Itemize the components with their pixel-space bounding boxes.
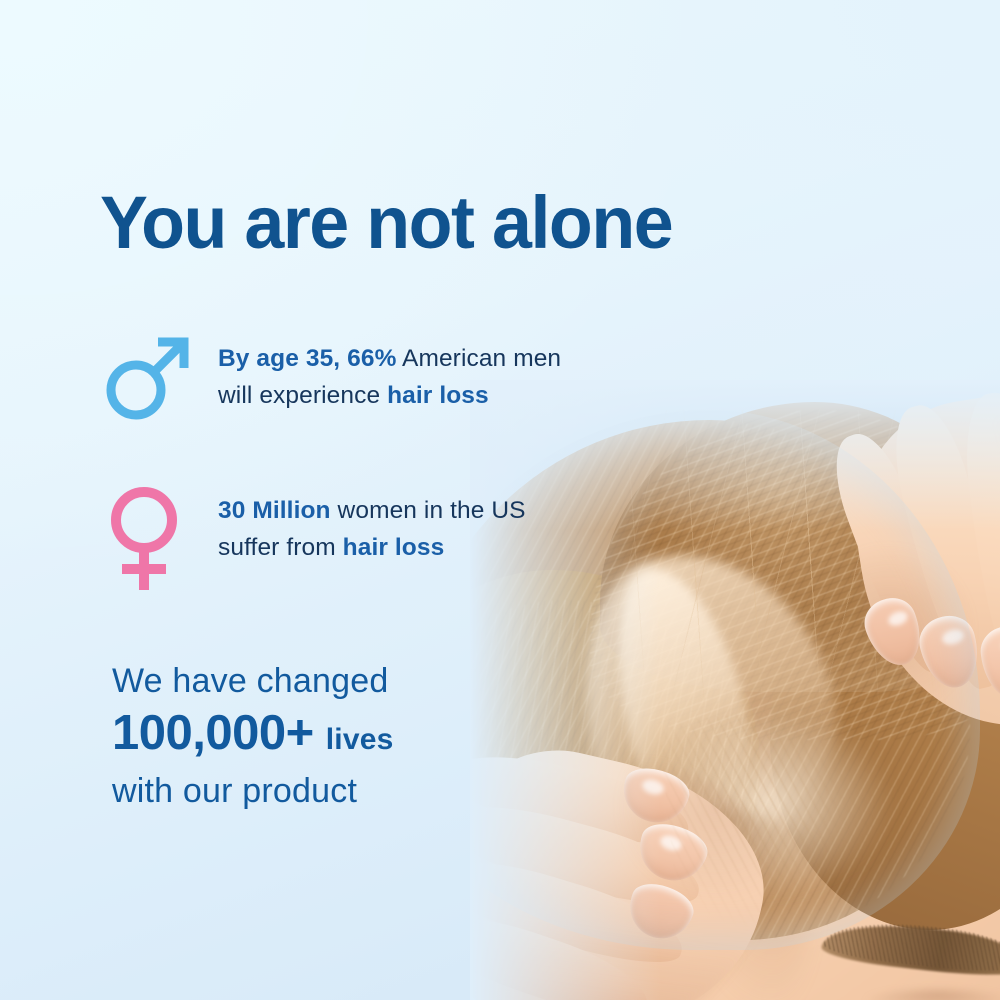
stat-line-1: 30 Million women in the US bbox=[218, 492, 526, 529]
lives-count: 100,000+ bbox=[112, 706, 314, 760]
closing-line-3: with our product bbox=[112, 770, 393, 813]
stat-row-women: 30 Million women in the US suffer from h… bbox=[100, 482, 526, 592]
hair-loss-photo bbox=[470, 380, 1000, 1000]
stat-rest: will experience bbox=[218, 382, 387, 409]
male-gender-icon bbox=[100, 330, 196, 426]
page-title: You are not alone bbox=[100, 186, 672, 260]
stat-emphasis: hair loss bbox=[387, 382, 489, 409]
poster-canvas: You are not alone By age 35, 66% America… bbox=[0, 0, 1000, 1000]
stat-line-2: suffer from hair loss bbox=[218, 529, 526, 566]
stat-rest: American men bbox=[396, 345, 561, 372]
stat-rest: women in the US bbox=[331, 497, 526, 524]
lives-count-suffix: lives bbox=[326, 723, 394, 756]
stat-text-women: 30 Million women in the US suffer from h… bbox=[218, 482, 526, 566]
closing-statement: We have changed 100,000+lives with our p… bbox=[112, 660, 393, 813]
stat-emphasis: 30 Million bbox=[218, 497, 331, 524]
stat-line-1: By age 35, 66% American men bbox=[218, 340, 561, 377]
closing-line-2: 100,000+lives bbox=[112, 705, 393, 763]
stat-emphasis: By age 35, 66% bbox=[218, 345, 396, 372]
stat-rest: suffer from bbox=[218, 534, 343, 561]
stat-row-men: By age 35, 66% American men will experie… bbox=[100, 330, 561, 426]
stat-text-men: By age 35, 66% American men will experie… bbox=[218, 330, 561, 414]
closing-line-1: We have changed bbox=[112, 660, 393, 703]
female-gender-icon bbox=[100, 482, 196, 592]
stat-emphasis: hair loss bbox=[343, 534, 445, 561]
stat-line-2: will experience hair loss bbox=[218, 377, 561, 414]
